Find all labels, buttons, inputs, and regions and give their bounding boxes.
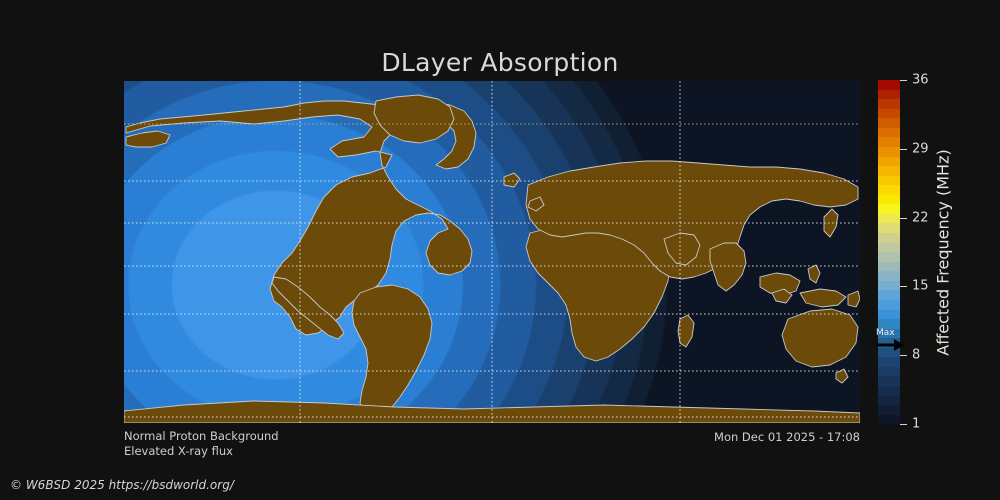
colorbar-swatch bbox=[878, 99, 900, 109]
colorbar[interactable] bbox=[878, 80, 900, 424]
colorbar-swatch bbox=[878, 214, 900, 224]
colorbar-swatch bbox=[878, 166, 900, 176]
colorbar-swatch bbox=[878, 223, 900, 233]
colorbar-swatch bbox=[878, 233, 900, 243]
colorbar-tick-mark bbox=[900, 149, 907, 150]
colorbar-swatch bbox=[878, 281, 900, 291]
max-label: Max bbox=[876, 329, 895, 338]
page-title: DLayer Absorption bbox=[0, 48, 1000, 77]
colorbar-swatch bbox=[878, 376, 900, 386]
colorbar-swatch bbox=[878, 271, 900, 281]
colorbar-swatch bbox=[878, 367, 900, 377]
colorbar-axis-label-text: Affected Frequency (MHz) bbox=[934, 149, 953, 355]
colorbar-swatch bbox=[878, 300, 900, 310]
timestamp: Mon Dec 01 2025 - 17:08 bbox=[714, 430, 860, 444]
colorbar-swatch bbox=[878, 310, 900, 320]
colorbar-swatch bbox=[878, 157, 900, 167]
status-xray: Elevated X-ray flux bbox=[124, 444, 279, 459]
colorbar-swatch bbox=[878, 90, 900, 100]
colorbar-tick-label: 15 bbox=[912, 279, 929, 294]
colorbar-tick-label: 1 bbox=[912, 417, 920, 432]
colorbar-tick-mark bbox=[900, 80, 907, 81]
colorbar-swatch bbox=[878, 137, 900, 147]
colorbar-tick-mark bbox=[900, 424, 907, 425]
colorbar-tick-label: 22 bbox=[912, 210, 929, 225]
colorbar-swatch bbox=[878, 109, 900, 119]
max-marker: Max bbox=[874, 329, 904, 353]
colorbar-swatch bbox=[878, 80, 900, 90]
colorbar-swatch bbox=[878, 357, 900, 367]
colorbar-swatch bbox=[878, 262, 900, 272]
status-block: Normal Proton Background Elevated X-ray … bbox=[124, 429, 279, 459]
colorbar-swatch bbox=[878, 147, 900, 157]
colorbar-swatch bbox=[878, 415, 900, 425]
colorbar-swatch bbox=[878, 118, 900, 128]
colorbar-swatch bbox=[878, 319, 900, 329]
colorbar-swatch bbox=[878, 128, 900, 138]
colorbar-tick-mark bbox=[900, 355, 907, 356]
colorbar-tick-mark bbox=[900, 218, 907, 219]
colorbar-tick-label: 36 bbox=[912, 73, 929, 88]
colorbar-swatch bbox=[878, 252, 900, 262]
colorbar-swatch bbox=[878, 405, 900, 415]
colorbar-swatch bbox=[878, 185, 900, 195]
colorbar-tick-label: 29 bbox=[912, 141, 929, 156]
colorbar-swatch bbox=[878, 176, 900, 186]
colorbar-swatch bbox=[878, 204, 900, 214]
status-proton: Normal Proton Background bbox=[124, 429, 279, 444]
colorbar-swatch bbox=[878, 396, 900, 406]
map-canvas bbox=[124, 81, 860, 423]
dlayer-absorption-app: DLayer Absorption bbox=[0, 0, 1000, 500]
colorbar-swatch bbox=[878, 195, 900, 205]
colorbar-swatch bbox=[878, 290, 900, 300]
colorbar-axis-label: Affected Frequency (MHz) bbox=[930, 80, 956, 424]
colorbar-tick-mark bbox=[900, 286, 907, 287]
colorbar-tick-label: 8 bbox=[912, 348, 920, 363]
colorbar-swatch bbox=[878, 386, 900, 396]
copyright-notice: © W6BSD 2025 https://bsdworld.org/ bbox=[10, 478, 234, 492]
world-map[interactable] bbox=[124, 81, 860, 423]
colorbar-swatch bbox=[878, 243, 900, 253]
